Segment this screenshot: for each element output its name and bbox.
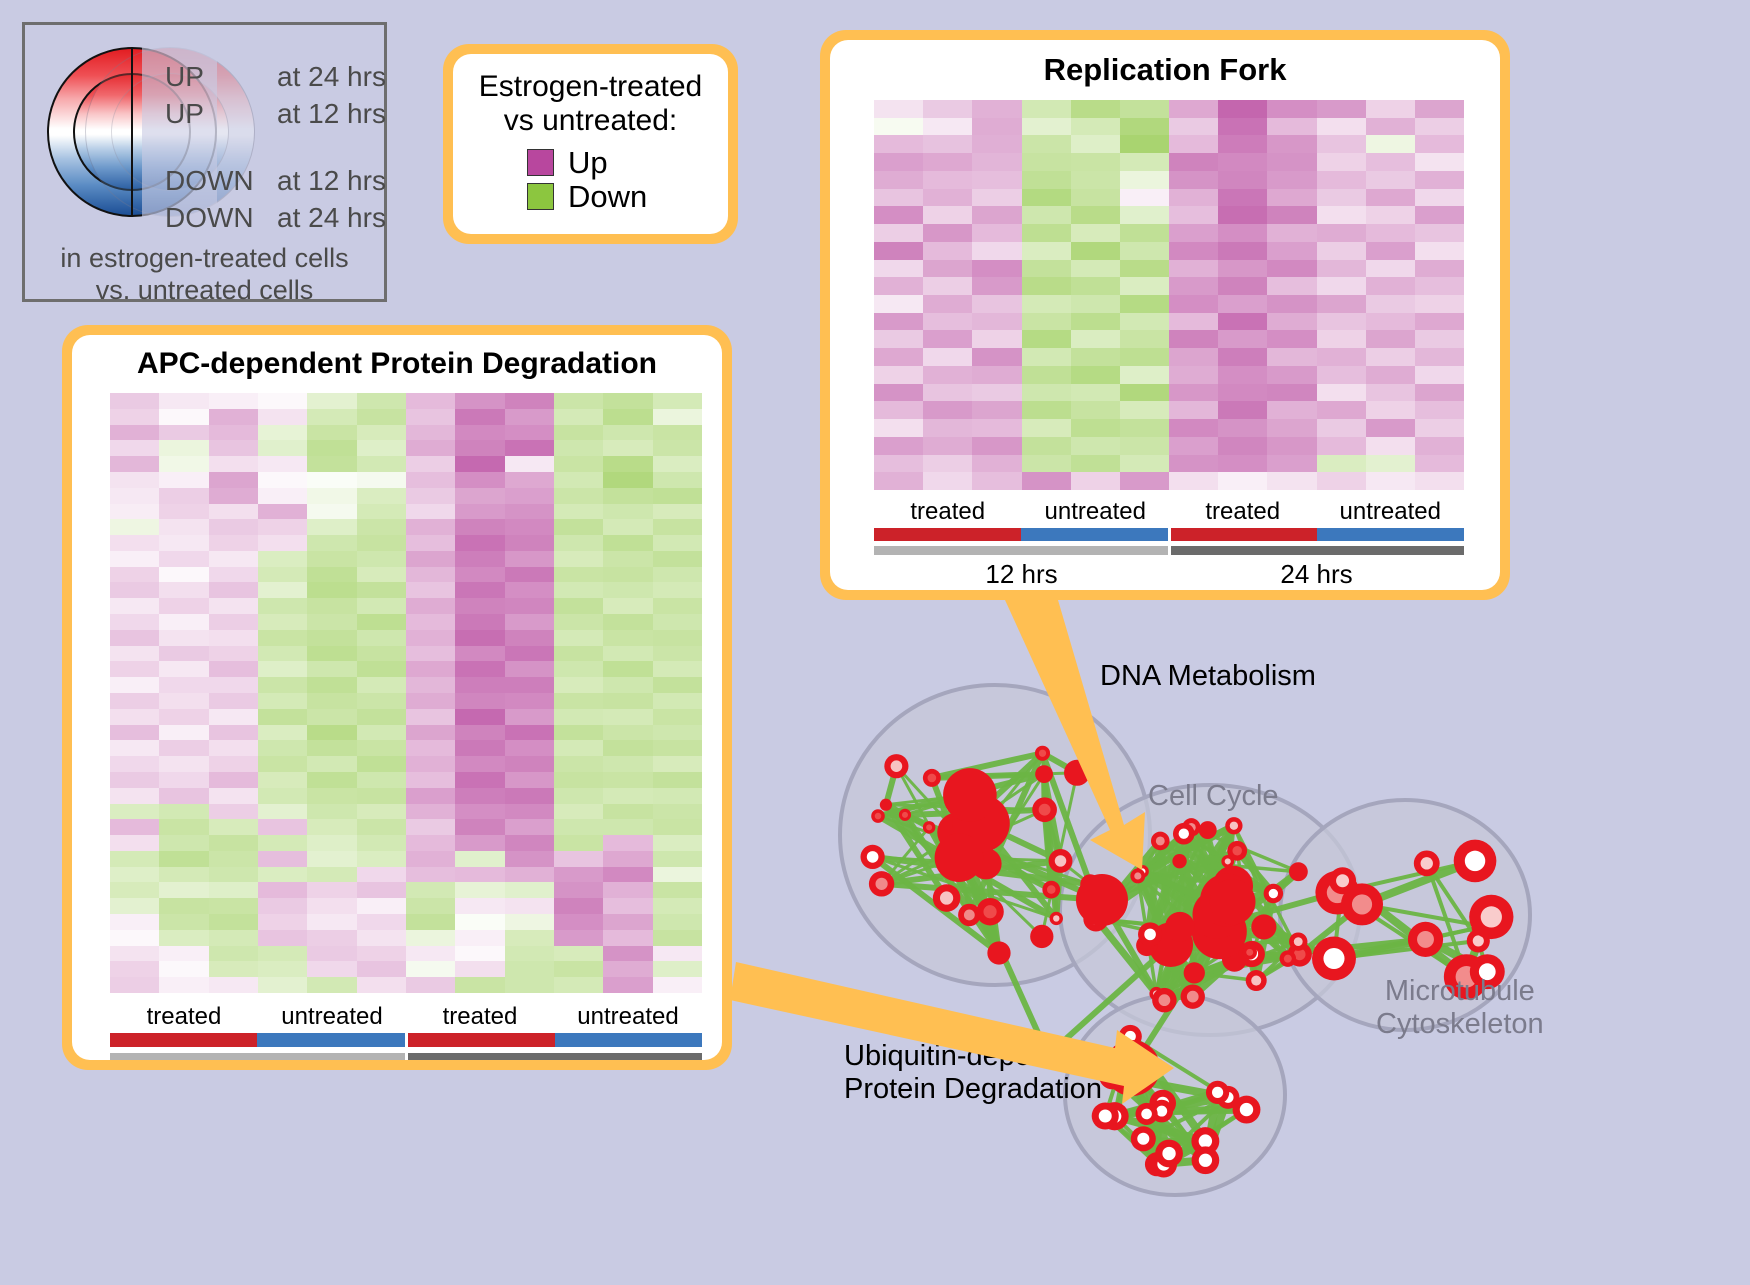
heatmap-cell — [1267, 330, 1316, 348]
heatmap-cell — [307, 772, 356, 788]
heatmap-cell — [307, 930, 356, 946]
heatmap-cell — [1120, 277, 1169, 295]
heatmap-cell — [110, 835, 159, 851]
heatmap-cell — [307, 614, 356, 630]
group-label: treated — [874, 498, 1022, 526]
heatmap-cell — [455, 440, 504, 456]
heatmap-cell — [159, 582, 208, 598]
heatmap-cell — [554, 819, 603, 835]
heatmap-cell — [209, 709, 258, 725]
heatmap-cell — [653, 661, 702, 677]
heatmap-cell — [258, 709, 307, 725]
heatmap-cell — [110, 393, 159, 409]
heatmap-cell — [653, 646, 702, 662]
treatment-bar-segment — [874, 528, 1021, 541]
heatmap-cell — [209, 677, 258, 693]
heatmap-cell — [505, 946, 554, 962]
heatmap-cell — [209, 393, 258, 409]
heatmap-cell — [209, 630, 258, 646]
heatmap-cell — [923, 437, 972, 455]
heatmap-cell — [1071, 171, 1120, 189]
heatmap-cell — [554, 851, 603, 867]
heatmap-cell — [653, 740, 702, 756]
heatmap-cell — [554, 646, 603, 662]
heatmap-cell — [653, 488, 702, 504]
heatmap-cell — [406, 882, 455, 898]
heatmap-cell — [1169, 313, 1218, 331]
heatmap-cell — [603, 867, 652, 883]
network-diagram: DNA Metabolism Cell Cycle Microtubule Cy… — [780, 600, 1570, 1280]
heatmap-cell — [1071, 437, 1120, 455]
heatmap-cell — [1218, 171, 1267, 189]
heatmap-cell — [455, 582, 504, 598]
heatmap-cell — [159, 440, 208, 456]
heatmap-cell — [653, 425, 702, 441]
heatmap-cell — [159, 788, 208, 804]
heatmap-cell — [110, 819, 159, 835]
heatmap-cell — [1169, 153, 1218, 171]
panel-replication-fork: Replication Fork treateduntreatedtreated… — [820, 30, 1510, 600]
heatmap-cell — [110, 472, 159, 488]
heatmap-cell — [258, 535, 307, 551]
heatmap-cell — [258, 504, 307, 520]
heatmap-cell — [455, 930, 504, 946]
heatmap-cell — [505, 867, 554, 883]
heatmap-cell — [1415, 313, 1464, 331]
panel-replication-fork-inner: Replication Fork treateduntreatedtreated… — [830, 40, 1500, 590]
heatmap-cell — [972, 242, 1021, 260]
heatmap-cell — [110, 519, 159, 535]
heatmap-cell — [972, 455, 1021, 473]
heatmap-cell — [110, 582, 159, 598]
heatmap-cell — [1366, 419, 1415, 437]
heatmap-cell — [1366, 260, 1415, 278]
heatmap-cell — [653, 519, 702, 535]
heatmap-cell — [554, 472, 603, 488]
heatmap-cell — [874, 118, 923, 136]
heatmap-cell — [455, 914, 504, 930]
network-node-core — [983, 905, 996, 918]
heatmap-cell — [406, 804, 455, 820]
group-labels-apc: treateduntreatedtreateduntreated — [110, 1003, 702, 1031]
heatmap-cell — [1366, 330, 1415, 348]
heatmap-cell — [159, 930, 208, 946]
heatmap-cell — [307, 819, 356, 835]
heatmap-cell — [406, 440, 455, 456]
heatmap-cell — [1071, 472, 1120, 490]
heatmap-cell — [159, 851, 208, 867]
heatmap-cell — [258, 440, 307, 456]
heatmap-cell — [1120, 455, 1169, 473]
heatmap-cell — [603, 456, 652, 472]
heatmap-cell — [209, 804, 258, 820]
legend-label-up-24: UP — [165, 61, 277, 93]
heatmap-cell — [554, 867, 603, 883]
heatmap-cell — [874, 260, 923, 278]
heatmap-cell — [554, 740, 603, 756]
heatmap-cell — [307, 567, 356, 583]
heatmap-cell — [554, 425, 603, 441]
heatmap-cell — [1317, 242, 1366, 260]
heatmap-cell — [653, 693, 702, 709]
heatmap-cell — [110, 440, 159, 456]
network-node-core — [940, 891, 953, 904]
cluster-label-ubiquitin-dependent-protein-degradation: Ubiquitin-dependent Protein Degradation — [844, 1040, 1104, 1107]
heatmap-cell — [1022, 135, 1071, 153]
heatmap-cell — [455, 709, 504, 725]
time-bar-segment — [874, 546, 1171, 555]
heatmap-cell — [1120, 384, 1169, 402]
heatmap-cell — [258, 804, 307, 820]
heatmap-cell — [307, 835, 356, 851]
heatmap-cell — [209, 772, 258, 788]
heatmap-cell — [653, 914, 702, 930]
heatmap-cell — [307, 425, 356, 441]
heatmap-cell — [357, 488, 406, 504]
heatmap-cell — [1022, 242, 1071, 260]
network-node-core — [1156, 1106, 1167, 1117]
heatmap-cell — [1366, 189, 1415, 207]
heatmap-cell — [653, 598, 702, 614]
network-node-core — [928, 774, 937, 783]
heatmap-cell — [1218, 189, 1267, 207]
heatmap-cell — [406, 393, 455, 409]
heatmap-cell — [554, 456, 603, 472]
heatmap-cell — [209, 867, 258, 883]
heatmap-cell — [874, 419, 923, 437]
heatmap-cell — [307, 693, 356, 709]
heatmap-cell — [209, 614, 258, 630]
heatmap-cell — [357, 567, 406, 583]
heatmap-cell — [1218, 260, 1267, 278]
heatmap-cell — [1415, 348, 1464, 366]
heatmap-cell — [357, 835, 406, 851]
heatmap-cell — [406, 677, 455, 693]
heatmap-cell — [505, 630, 554, 646]
heatmap-cell — [1071, 419, 1120, 437]
heatmap-cell — [455, 804, 504, 820]
heatmap-cell — [603, 898, 652, 914]
heatmap-cell — [972, 153, 1021, 171]
heatmap-cell — [1317, 224, 1366, 242]
heatmap-cell — [209, 977, 258, 993]
network-node — [1076, 874, 1128, 926]
cluster-label-microtubule-cytoskeleton: Microtubule Cytoskeleton — [1376, 975, 1544, 1042]
heatmap-cell — [923, 224, 972, 242]
heatmap-cell — [653, 851, 702, 867]
heatmap-cell — [455, 977, 504, 993]
heatmap-cell — [455, 504, 504, 520]
heatmap-cell — [110, 946, 159, 962]
network-node-core — [1212, 1087, 1223, 1098]
heatmap-cell — [209, 725, 258, 741]
heatmap-cell — [1415, 384, 1464, 402]
heatmap-cell — [159, 740, 208, 756]
heatmap-cell — [406, 709, 455, 725]
network-node — [1035, 765, 1053, 783]
legend-item-up: Up — [527, 147, 710, 178]
heatmap-cell — [159, 567, 208, 583]
network-node — [1064, 760, 1090, 786]
heatmap-cell — [455, 946, 504, 962]
heatmap-cell — [307, 709, 356, 725]
heatmap-cell — [653, 725, 702, 741]
heatmap-cell — [258, 567, 307, 583]
heatmap-cell — [406, 835, 455, 851]
network-node-core — [1099, 1110, 1112, 1123]
heatmap-cell — [110, 693, 159, 709]
heatmap-cell — [1071, 260, 1120, 278]
heatmap-cell — [1267, 366, 1316, 384]
network-node-core — [1240, 1103, 1253, 1116]
heatmap-cell — [455, 614, 504, 630]
heatmap-cell — [1169, 206, 1218, 224]
heatmap-cell — [1169, 100, 1218, 118]
estrogen-legend-items: Up Down — [471, 147, 710, 212]
heatmap-cell — [1169, 171, 1218, 189]
heatmap-cell — [874, 171, 923, 189]
caption-line-2: vs. untreated cells — [25, 275, 384, 307]
heatmap-cell — [110, 567, 159, 583]
heatmap-cell — [1267, 401, 1316, 419]
legend-label-down-24: DOWN — [165, 202, 277, 234]
heatmap-cell — [1366, 277, 1415, 295]
heatmap-cell — [653, 440, 702, 456]
heatmap-cell — [1022, 206, 1071, 224]
heatmap-cell — [1267, 260, 1316, 278]
heatmap-cell — [554, 898, 603, 914]
heatmap-cell — [1022, 437, 1071, 455]
heatmap-cell — [1169, 455, 1218, 473]
heatmap-cell — [110, 756, 159, 772]
heatmap-cell — [307, 882, 356, 898]
heatmap-cell — [406, 898, 455, 914]
heatmap-cell — [972, 118, 1021, 136]
legend-item-down-label: Down — [568, 181, 647, 212]
heatmap-cell — [357, 425, 406, 441]
heatmap-cell — [1071, 206, 1120, 224]
heatmap-cell — [1169, 330, 1218, 348]
time-label: 24 hrs — [1169, 559, 1464, 590]
heatmap-cell — [653, 393, 702, 409]
heatmap-cell — [603, 519, 652, 535]
heatmap-cell — [258, 898, 307, 914]
heatmap-cell — [1415, 401, 1464, 419]
heatmap-cell — [1267, 455, 1316, 473]
heatmap-cell — [554, 551, 603, 567]
heatmap-cell — [357, 756, 406, 772]
heatmap-cell — [505, 772, 554, 788]
heatmap-cell — [554, 567, 603, 583]
heatmap-cell — [406, 930, 455, 946]
treatment-bar-replication-fork — [874, 528, 1464, 541]
heatmap-cell — [307, 582, 356, 598]
heatmap-cell — [455, 677, 504, 693]
heatmap-cell — [1415, 472, 1464, 490]
heatmap-cell — [1415, 224, 1464, 242]
heatmap-cell — [874, 348, 923, 366]
heatmap-cell — [603, 961, 652, 977]
heatmap-cell — [505, 677, 554, 693]
heatmap-cell — [1415, 118, 1464, 136]
heatmap-cell — [1120, 313, 1169, 331]
heatmap-cell — [603, 882, 652, 898]
heatmap-cell — [1071, 224, 1120, 242]
network-node-core — [875, 878, 887, 890]
heatmap-cell — [554, 756, 603, 772]
heatmap-cell — [1415, 295, 1464, 313]
heatmap-cell — [874, 277, 923, 295]
network-node-core — [1336, 874, 1349, 887]
heatmap-cell — [159, 425, 208, 441]
heatmap-cell — [455, 598, 504, 614]
heatmap-cell — [209, 582, 258, 598]
heatmap-cell — [110, 504, 159, 520]
heatmap-cell — [923, 330, 972, 348]
network-node-core — [1465, 851, 1485, 871]
heatmap-cell — [554, 661, 603, 677]
heatmap-cell — [357, 693, 406, 709]
heatmap-cell — [307, 456, 356, 472]
heatmap-cell — [603, 425, 652, 441]
panel-replication-fork-axis: treateduntreatedtreateduntreated 12 hrs2… — [874, 498, 1464, 590]
heatmap-cell — [554, 677, 603, 693]
legend-row-up-24: UPat 24 hrs — [165, 61, 386, 93]
circle-midline — [131, 47, 133, 217]
heatmap-cell — [923, 277, 972, 295]
heatmap-cell — [653, 835, 702, 851]
heatmap-cell — [357, 772, 406, 788]
heatmap-cell — [307, 535, 356, 551]
heatmap-cell — [159, 977, 208, 993]
treatment-bar-segment — [1317, 528, 1464, 541]
heatmap-cell — [110, 709, 159, 725]
heatmap-cell — [406, 472, 455, 488]
heatmap-cell — [1317, 118, 1366, 136]
heatmap-cell — [406, 551, 455, 567]
heatmap-cell — [357, 630, 406, 646]
heatmap-cell — [1022, 153, 1071, 171]
heatmap-cell — [1071, 153, 1120, 171]
heatmap-cell — [455, 788, 504, 804]
heatmap-cell — [1267, 242, 1316, 260]
heatmap-cell — [1218, 472, 1267, 490]
heatmap-cell — [258, 930, 307, 946]
heatmap-cell — [1022, 189, 1071, 207]
heatmap-cell — [505, 409, 554, 425]
heatmap-cell — [874, 153, 923, 171]
heatmap-cell — [110, 488, 159, 504]
heatmap-cell — [1120, 171, 1169, 189]
heatmap-cell — [1022, 260, 1071, 278]
heatmap-cell — [307, 646, 356, 662]
heatmap-cell — [923, 419, 972, 437]
network-node-core — [1421, 857, 1433, 869]
heatmap-cell — [1120, 472, 1169, 490]
heatmap-cell — [110, 930, 159, 946]
heatmap-cell — [505, 456, 554, 472]
heatmap-cell — [1415, 171, 1464, 189]
heatmap-cell — [1022, 330, 1071, 348]
heatmap-cell — [972, 295, 1021, 313]
heatmap-cell — [455, 693, 504, 709]
heatmap-cell — [554, 835, 603, 851]
heatmap-cell — [110, 898, 159, 914]
heatmap-cell — [972, 366, 1021, 384]
panel-title-apc: APC-dependent Protein Degradation — [72, 335, 722, 381]
estrogen-legend-title: Estrogen-treated vs untreated: — [471, 70, 710, 137]
circle-legend-box: UPat 24 hrs UPat 12 hrs DOWNat 12 hrs DO… — [22, 22, 387, 302]
heatmap-cell — [209, 409, 258, 425]
heatmap-cell — [1218, 419, 1267, 437]
heatmap-cell — [1415, 455, 1464, 473]
heatmap-cell — [209, 788, 258, 804]
caption-line-1: in estrogen-treated cells — [25, 243, 384, 275]
heatmap-cell — [554, 788, 603, 804]
heatmap-cell — [923, 295, 972, 313]
heatmap-cell — [209, 472, 258, 488]
heatmap-cell — [505, 977, 554, 993]
network-node-core — [1251, 975, 1261, 985]
heatmap-cell — [1022, 171, 1071, 189]
heatmap-cell — [1169, 348, 1218, 366]
heatmap-cell — [455, 535, 504, 551]
heatmap-cell — [1317, 260, 1366, 278]
heatmap-cell — [357, 725, 406, 741]
heatmap-cell — [1169, 260, 1218, 278]
heatmap-cell — [307, 898, 356, 914]
network-node-core — [1039, 804, 1051, 816]
heatmap-cell — [653, 709, 702, 725]
heatmap-cell — [923, 455, 972, 473]
network-node — [880, 799, 892, 811]
heatmap-cell — [209, 914, 258, 930]
heatmap-cell — [357, 535, 406, 551]
heatmap-cell — [653, 946, 702, 962]
heatmap-cell — [1218, 242, 1267, 260]
heatmap-cell — [1022, 401, 1071, 419]
heatmap-cell — [1415, 100, 1464, 118]
cluster-label-cell-cycle: Cell Cycle — [1148, 780, 1279, 813]
heatmap-cell — [357, 582, 406, 598]
panel-apc-inner: APC-dependent Protein Degradation treate… — [72, 335, 722, 1060]
heatmap-cell — [110, 409, 159, 425]
heatmap-cell — [505, 393, 554, 409]
network-node-core — [1199, 1134, 1212, 1147]
heatmap-cell — [972, 330, 1021, 348]
heatmap-cell — [258, 472, 307, 488]
heatmap-cell — [209, 425, 258, 441]
heatmap-cell — [1022, 277, 1071, 295]
heatmap-cell — [455, 867, 504, 883]
time-bar-apc — [110, 1053, 702, 1060]
heatmap-cell — [1267, 100, 1316, 118]
heatmap-cell — [406, 661, 455, 677]
heatmap-cell — [159, 551, 208, 567]
heatmap-cell — [110, 788, 159, 804]
heatmap-cell — [307, 409, 356, 425]
heatmap-cell — [307, 677, 356, 693]
heatmap-cell — [603, 693, 652, 709]
heatmap-cell — [653, 977, 702, 993]
heatmap-cell — [406, 630, 455, 646]
heatmap-cell — [307, 961, 356, 977]
heatmap-cell — [1169, 384, 1218, 402]
heatmap-cell — [110, 725, 159, 741]
heatmap-cell — [357, 504, 406, 520]
heatmap-cell — [110, 630, 159, 646]
heatmap-cell — [209, 835, 258, 851]
